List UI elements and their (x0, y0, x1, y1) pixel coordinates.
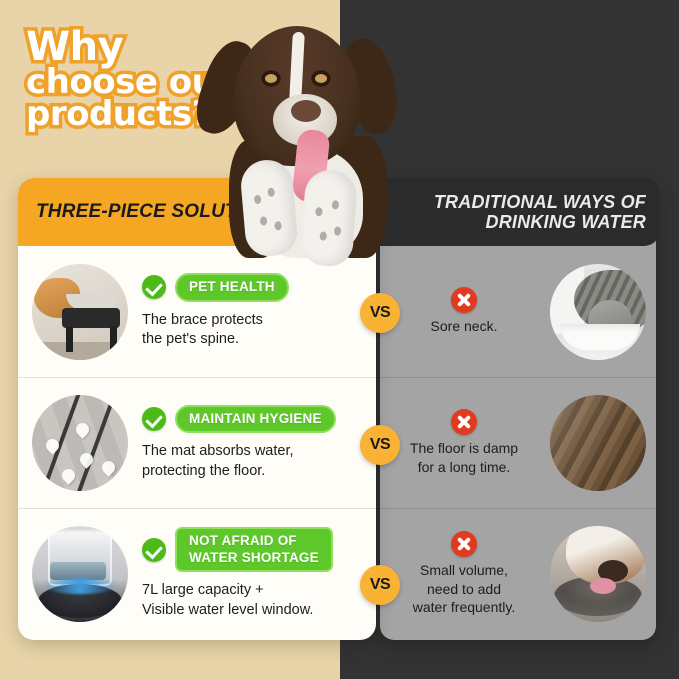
feature-badge-line: NOT AFRAID OF WATER SHORTAGE (142, 527, 362, 572)
right-panel-header: TRADITIONAL WAYS OF DRINKING WATER (380, 178, 660, 246)
left-rows: PET HEALTH The brace protects the pet's … (18, 246, 376, 639)
dog-elevated-bowl-photo (32, 264, 128, 360)
feature-row-text: NOT AFRAID OF WATER SHORTAGE 7L large ca… (128, 527, 362, 620)
comparison-row: Small volume, need to add water frequent… (380, 508, 656, 639)
check-circle-icon (142, 538, 166, 562)
vs-badge: VS (360, 425, 400, 465)
feature-description: The mat absorbs water, protecting the fl… (142, 442, 362, 481)
dog-paw-right (300, 168, 359, 267)
right-row-description: Small volume, need to add water frequent… (384, 561, 544, 617)
feature-row-text: MAINTAIN HYGIENE The mat absorbs water, … (128, 405, 362, 482)
dog-small-bowl-photo (550, 526, 646, 622)
feature-badge: NOT AFRAID OF WATER SHORTAGE (175, 527, 333, 572)
vs-badge: VS (360, 293, 400, 333)
dog-paw-left (239, 158, 299, 258)
feature-description: The brace protects the pet's spine. (142, 311, 362, 350)
check-circle-icon (142, 275, 166, 299)
infographic-canvas: Why choose our products? TRADITIONAL WAY… (0, 0, 679, 679)
feature-row: NOT AFRAID OF WATER SHORTAGE 7L large ca… (18, 508, 376, 639)
dog-portrait-photo (195, 8, 405, 258)
feature-badge: PET HEALTH (175, 273, 289, 301)
right-row-text: The floor is damp for a long time. (384, 409, 550, 477)
feature-description: 7L large capacity + Visible water level … (142, 581, 362, 620)
right-row-text: Sore neck. (384, 287, 550, 336)
absorbent-mat-photo (32, 395, 128, 491)
x-circle-icon (451, 531, 477, 557)
check-circle-icon (142, 407, 166, 431)
comparison-row: The floor is damp for a long time. (380, 377, 656, 508)
dog-eye-right (311, 70, 331, 87)
feature-badge-line: PET HEALTH (142, 273, 362, 301)
right-row-description: The floor is damp for a long time. (384, 439, 544, 477)
damp-wood-floor-photo (550, 395, 646, 491)
dog-nose (291, 100, 321, 122)
feature-row-text: PET HEALTH The brace protects the pet's … (128, 273, 362, 350)
x-circle-icon (451, 409, 477, 435)
x-circle-icon (451, 287, 477, 313)
water-fountain-tank-photo (32, 526, 128, 622)
right-row-description: Sore neck. (384, 317, 544, 336)
vs-badge: VS (360, 565, 400, 605)
feature-badge: MAINTAIN HYGIENE (175, 405, 336, 433)
cat-low-bowl-photo (550, 264, 646, 360)
right-rows: Sore neck. The floor is damp for a long … (380, 246, 656, 639)
comparison-row: Sore neck. (380, 246, 656, 377)
right-panel-header-label: TRADITIONAL WAYS OF DRINKING WATER (380, 192, 660, 232)
right-panel-card: Sore neck. The floor is damp for a long … (380, 178, 656, 640)
dog-eye-left (261, 70, 281, 87)
feature-badge-line: MAINTAIN HYGIENE (142, 405, 362, 433)
feature-row: MAINTAIN HYGIENE The mat absorbs water, … (18, 377, 376, 508)
right-row-text: Small volume, need to add water frequent… (384, 531, 550, 617)
